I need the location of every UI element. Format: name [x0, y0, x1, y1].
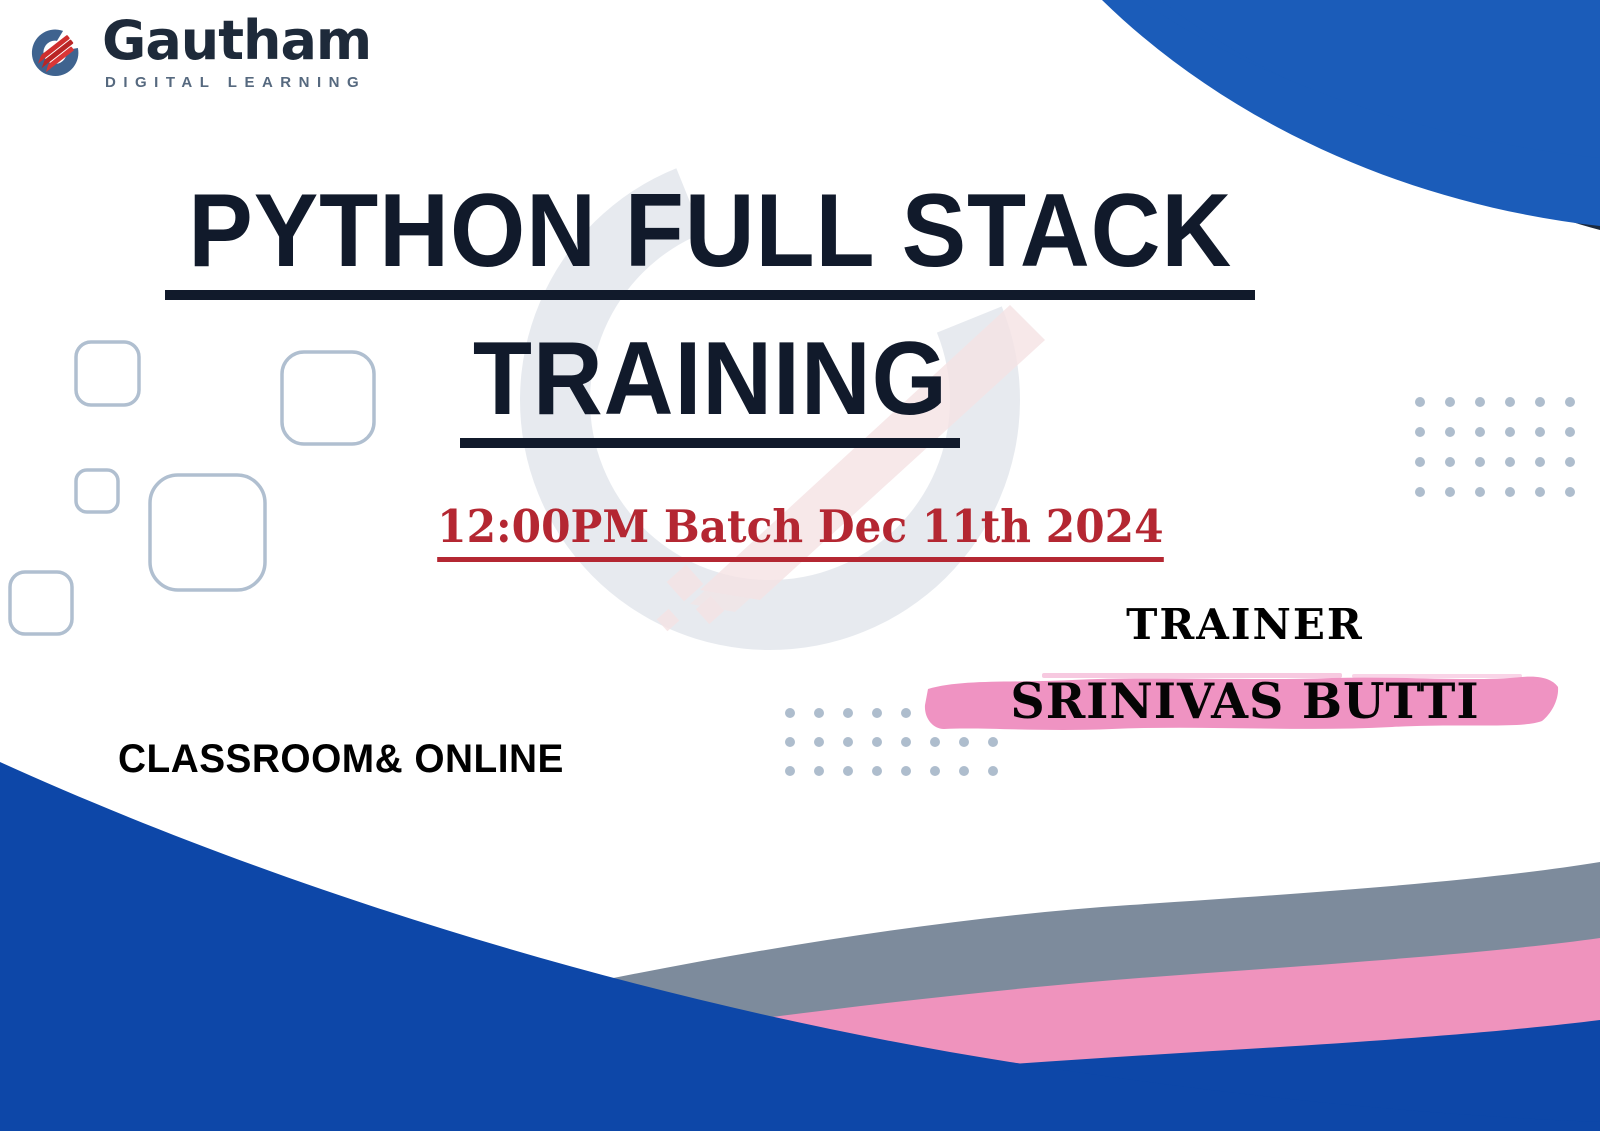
poster-canvas: Gautham DIGITAL LEARNING PYTHON FULL STA…: [0, 0, 1600, 1131]
headline-line-1: PYTHON FULL STACK: [0, 178, 1420, 300]
trainer-label: TRAINER: [930, 600, 1560, 649]
brand-name: Gautham: [102, 14, 371, 68]
band-blue-deep-bottom: [0, 1020, 1600, 1131]
gautham-ring-pencils-logo-icon: [24, 21, 86, 83]
trainer-section: TRAINER SRINIVAS BUTTI: [900, 600, 1560, 741]
page-title: PYTHON FULL STACK TRAINING: [0, 178, 1420, 448]
trainer-name: SRINIVAS BUTTI: [939, 667, 1550, 735]
headline-underline-1: [165, 290, 1255, 300]
dot-grid-right: [1415, 397, 1575, 497]
background-decoration: [0, 0, 1600, 1131]
brand-logo: Gautham DIGITAL LEARNING: [24, 14, 371, 90]
brand-wordmark: Gautham DIGITAL LEARNING: [102, 14, 371, 90]
band-blue-topright: [1125, 0, 1600, 172]
headline-line-2: TRAINING: [0, 326, 1420, 448]
headline-line-1-text: PYTHON FULL STACK: [182, 178, 1237, 284]
band-slate-topright: [1190, 0, 1600, 195]
headline-underline-2: [460, 438, 960, 448]
trainer-name-container: SRINIVAS BUTTI: [900, 667, 1560, 741]
batch-schedule: 12:00PM Batch Dec 11th 2024: [0, 500, 1600, 562]
band-blue-topright-sweep: [1125, 0, 1600, 196]
band-blue-left-sweep: [0, 762, 1600, 1131]
batch-schedule-text: 12:00PM Batch Dec 11th 2024: [437, 500, 1163, 562]
delivery-mode-label: CLASSROOM& ONLINE: [118, 737, 564, 782]
headline-line-2-text: TRAINING: [467, 326, 953, 432]
band-pink-bottom: [0, 938, 1600, 1131]
band-gray-bottom: [0, 862, 1600, 1131]
brand-tagline: DIGITAL LEARNING: [105, 75, 371, 90]
